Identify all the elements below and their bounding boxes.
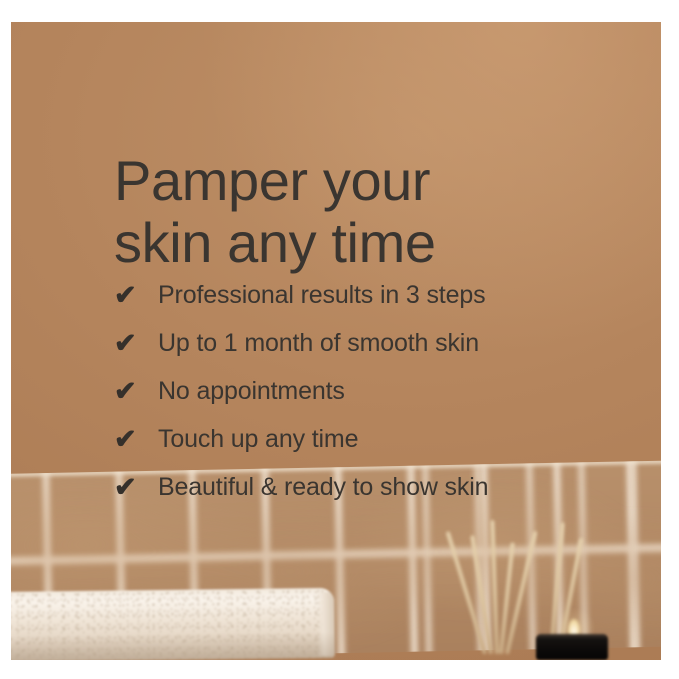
towel-shadow — [11, 632, 335, 660]
list-item-label: Professional results in 3 steps — [158, 281, 485, 310]
tealight-candle — [536, 634, 608, 660]
list-item: ✔ Professional results in 3 steps — [114, 271, 634, 319]
list-item-label: Touch up any time — [158, 425, 358, 454]
check-icon: ✔ — [114, 426, 158, 453]
list-item-label: Up to 1 month of smooth skin — [158, 329, 479, 358]
check-icon: ✔ — [114, 330, 158, 357]
list-item: ✔ No appointments — [114, 367, 634, 415]
check-icon: ✔ — [114, 282, 158, 309]
check-icon: ✔ — [114, 474, 158, 501]
page-title: Pamper your skin any time — [114, 150, 634, 275]
list-item: ✔ Up to 1 month of smooth skin — [114, 319, 634, 367]
list-item-label: No appointments — [158, 377, 345, 406]
candle-rim — [536, 634, 608, 639]
benefits-list: ✔ Professional results in 3 steps ✔ Up t… — [114, 271, 634, 511]
rolled-towel — [11, 588, 335, 660]
list-item: ✔ Beautiful & ready to show skin — [114, 463, 634, 511]
list-item-label: Beautiful & ready to show skin — [158, 473, 488, 502]
check-icon: ✔ — [114, 378, 158, 405]
list-item: ✔ Touch up any time — [114, 415, 634, 463]
product-feature-poster: Pamper your skin any time ✔ Professional… — [0, 0, 679, 679]
photo-frame: Pamper your skin any time ✔ Professional… — [11, 22, 661, 660]
